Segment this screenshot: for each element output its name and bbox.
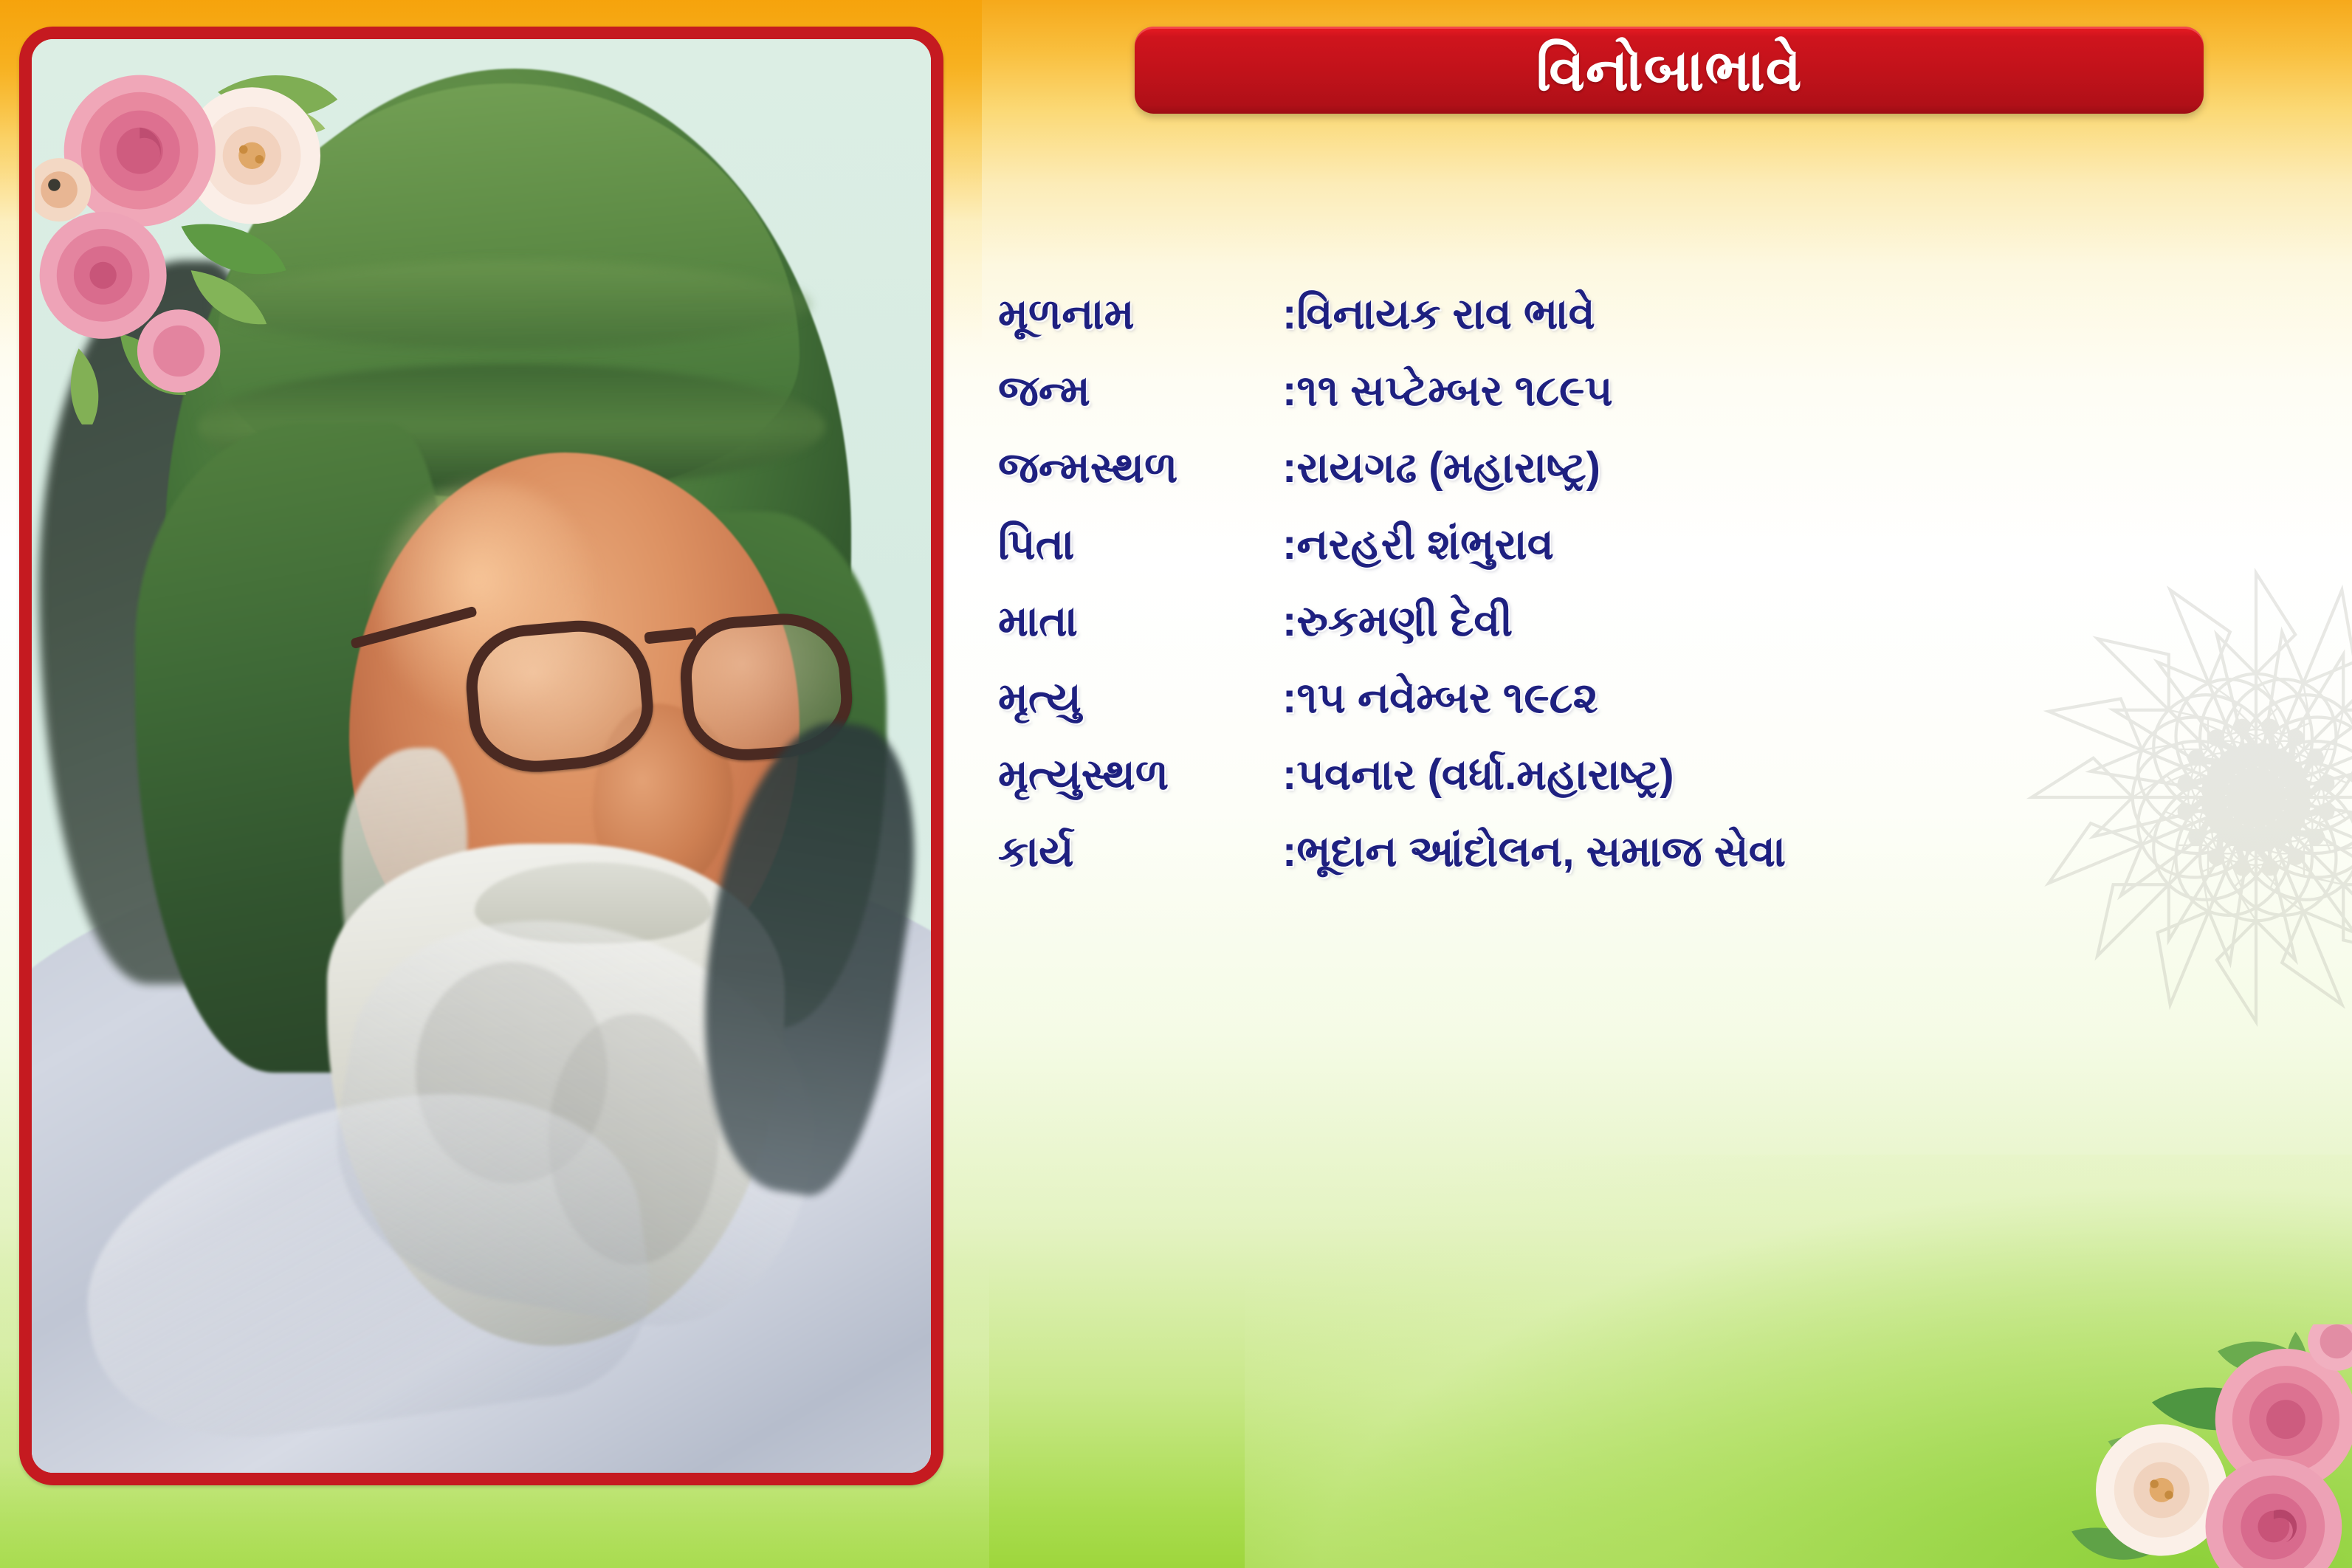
floral-decoration-top-left-icon — [35, 41, 352, 424]
info-label-birthplace: જન્મસ્થળ — [998, 443, 1282, 493]
info-value-birthplace: :રાયગઢ (મહારાષ્ટ્ર) — [1282, 443, 1600, 493]
info-value-father: :નરહરી શંભુરાવ — [1282, 520, 1554, 570]
page-title: વિનોબાભાવે — [1536, 41, 1803, 99]
info-label-mother: માતા — [998, 596, 1282, 647]
table-row: મૃત્યુ :૧૫ નવેમ્બર ૧૯૮૨ — [998, 673, 2283, 750]
info-label-original-name: મૂળનામ — [998, 289, 1282, 340]
info-value-work: :ભૂદાન આંદોલન, સમાજ સેવા — [1282, 827, 1786, 877]
table-row: મૂળનામ :વિનાયક રાવ ભાવે — [998, 289, 2283, 366]
info-value-birth: :૧૧ સપ્ટેમ્બર ૧૮૯૫ — [1282, 366, 1613, 416]
biography-info-list: મૂળનામ :વિનાયક રાવ ભાવે જન્મ :૧૧ સપ્ટેમ્… — [998, 289, 2283, 904]
info-value-original-name: :વિનાયક રાવ ભાવે — [1282, 289, 1595, 340]
poster-canvas: વિનોબાભાવે મૂળનામ :વિનાયક રાવ ભાવે જન્મ … — [0, 0, 2352, 1568]
info-label-birth: જન્મ — [998, 366, 1282, 416]
info-label-death: મૃત્યુ — [998, 673, 1282, 723]
table-row: પિતા :નરહરી શંભુરાવ — [998, 520, 2283, 596]
portrait-frame — [19, 27, 943, 1485]
table-row: માતા :રુકમણી દેવી — [998, 596, 2283, 673]
info-label-work: કાર્ય — [998, 827, 1282, 877]
info-label-deathplace: મૃત્યુસ્થળ — [998, 750, 1282, 800]
info-value-deathplace: :પવનાર (વર્ધા.મહારાષ્ટ્ર) — [1282, 750, 1674, 800]
portrait-image — [32, 39, 931, 1473]
table-row: કાર્ય :ભૂદાન આંદોલન, સમાજ સેવા — [998, 827, 2283, 904]
title-banner: વિનોબાભાવે — [1135, 27, 2204, 114]
table-row: જન્મ :૧૧ સપ્ટેમ્બર ૧૮૯૫ — [998, 366, 2283, 443]
info-value-mother: :રુકમણી દેવી — [1282, 596, 1513, 647]
floral-decoration-bottom-right-icon — [2035, 1324, 2352, 1568]
info-value-death: :૧૫ નવેમ્બર ૧૯૮૨ — [1282, 673, 1598, 723]
table-row: જન્મસ્થળ :રાયગઢ (મહારાષ્ટ્ર) — [998, 443, 2283, 520]
table-row: મૃત્યુસ્થળ :પવનાર (વર્ધા.મહારાષ્ટ્ર) — [998, 750, 2283, 827]
info-label-father: પિતા — [998, 520, 1282, 570]
